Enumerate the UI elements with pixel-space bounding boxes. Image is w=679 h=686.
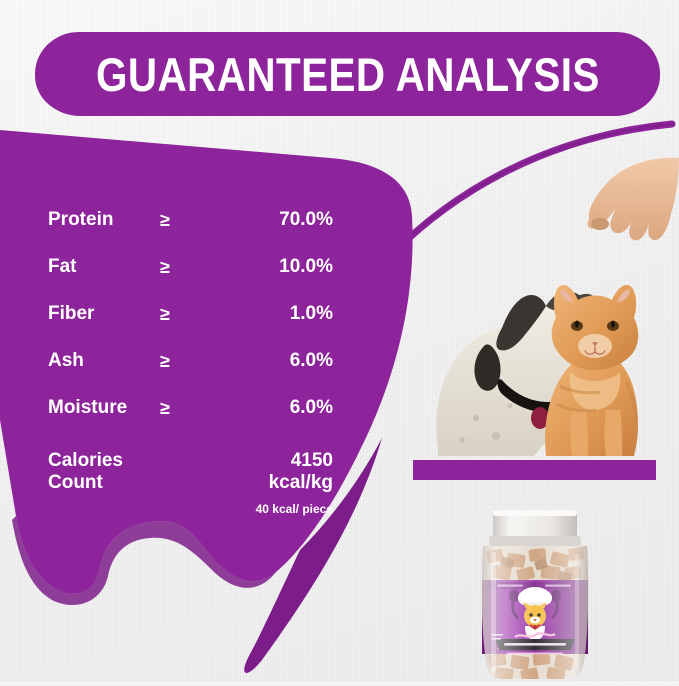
calories-label: Calories Count bbox=[48, 450, 198, 520]
nutrient-value: 6.0% bbox=[238, 350, 333, 372]
pets-photo bbox=[410, 150, 679, 480]
nutrient-operator: ≥ bbox=[160, 398, 238, 419]
nutrient-label: Fiber bbox=[48, 303, 160, 325]
nutrient-label: Moisture bbox=[48, 397, 160, 419]
calories-value-line1: 4150 bbox=[198, 450, 333, 472]
analysis-table: Protein ≥ 70.0% Fat ≥ 10.0% Fiber ≥ 1.0%… bbox=[0, 120, 380, 520]
table-row: Protein ≥ 70.0% bbox=[48, 206, 333, 234]
purple-accent-bar bbox=[413, 460, 656, 480]
calories-value: 4150 kcal/kg 40 kcal/ piece bbox=[198, 450, 333, 520]
calories-row: Calories Count 4150 kcal/kg 40 kcal/ pie… bbox=[48, 450, 333, 520]
calories-label-line1: Calories bbox=[48, 450, 198, 472]
nutrient-label: Fat bbox=[48, 256, 160, 278]
nutrient-label: Ash bbox=[48, 350, 160, 372]
page-title: GUARANTEED ANALYSIS bbox=[96, 47, 600, 102]
nutrient-value: 70.0% bbox=[238, 209, 333, 231]
hand-with-treat-illustration bbox=[587, 158, 679, 241]
calories-per-piece-note: 40 kcal/ piece bbox=[198, 498, 333, 520]
nutrient-operator: ≥ bbox=[160, 210, 238, 231]
nutrient-value: 6.0% bbox=[238, 397, 333, 419]
product-jar-image bbox=[471, 506, 599, 681]
nutrient-value: 10.0% bbox=[238, 256, 333, 278]
guaranteed-analysis-panel: Protein ≥ 70.0% Fat ≥ 10.0% Fiber ≥ 1.0%… bbox=[0, 120, 460, 680]
calories-value-line2: kcal/kg bbox=[198, 472, 333, 494]
table-row: Fiber ≥ 1.0% bbox=[48, 300, 333, 328]
calories-label-line2: Count bbox=[48, 472, 198, 494]
nutrient-operator: ≥ bbox=[160, 304, 238, 325]
nutrient-operator: ≥ bbox=[160, 257, 238, 278]
nutrient-label: Protein bbox=[48, 209, 160, 231]
nutrient-value: 1.0% bbox=[238, 303, 333, 325]
table-row: Fat ≥ 10.0% bbox=[48, 253, 333, 281]
page-title-banner: GUARANTEED ANALYSIS bbox=[35, 32, 660, 116]
table-row: Moisture ≥ 6.0% bbox=[48, 394, 333, 422]
nutrient-operator: ≥ bbox=[160, 351, 238, 372]
table-row: Ash ≥ 6.0% bbox=[48, 347, 333, 375]
jar-lid bbox=[489, 510, 581, 546]
